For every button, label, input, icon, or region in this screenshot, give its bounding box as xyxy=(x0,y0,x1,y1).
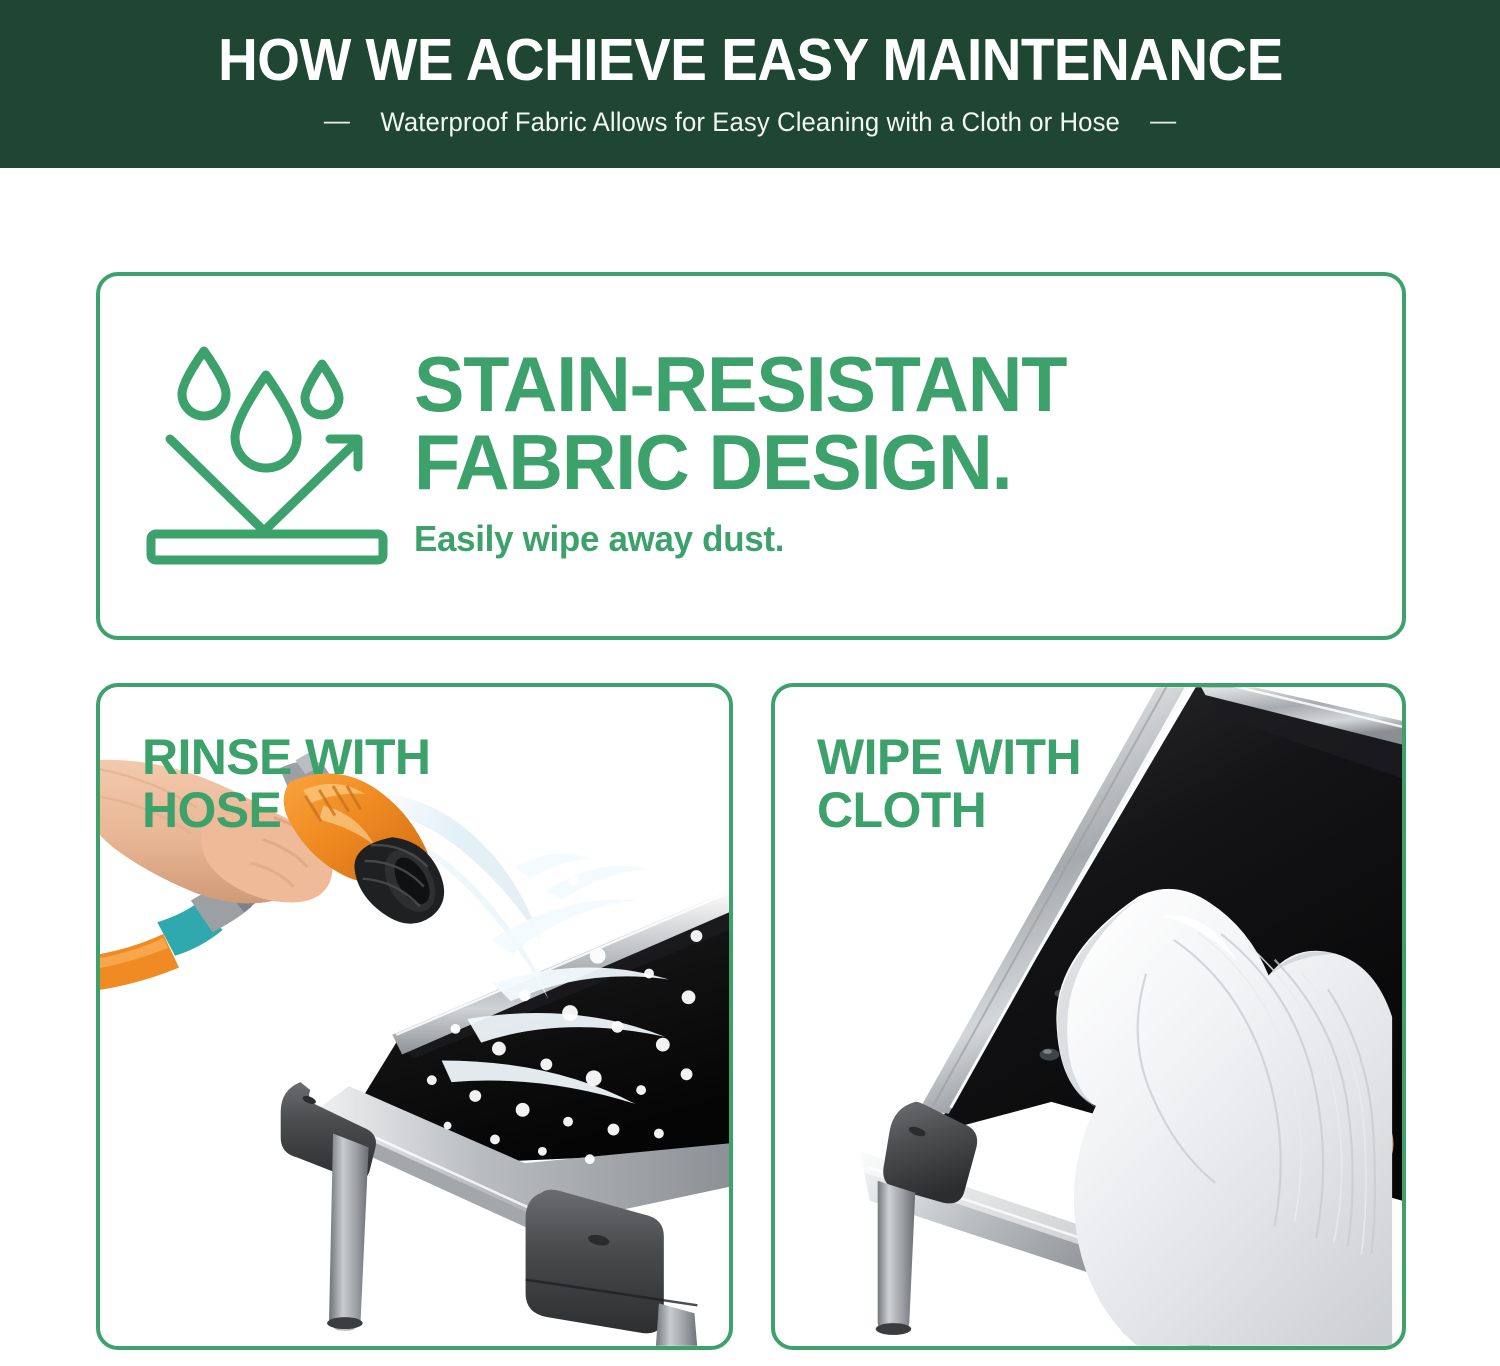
stain-card-inner: STAIN-RESISTANT FABRIC DESIGN. Easily wi… xyxy=(100,276,1402,636)
metal-leg-left xyxy=(878,1181,916,1335)
subtitle-row: — Waterproof Fabric Allows for Easy Clea… xyxy=(324,107,1176,138)
stain-resistant-card: STAIN-RESISTANT FABRIC DESIGN. Easily wi… xyxy=(96,272,1406,640)
page-header: HOW WE ACHIEVE EASY MAINTENANCE — Waterp… xyxy=(0,0,1500,168)
stain-card-text: STAIN-RESISTANT FABRIC DESIGN. Easily wi… xyxy=(414,346,1086,565)
dark-gray-corner-cap-right xyxy=(526,1190,664,1334)
water-repellent-fabric-icon xyxy=(142,331,392,581)
wipe-with-cloth-card: WIPE WITH CLOTH xyxy=(771,683,1406,1350)
metal-leg-left xyxy=(329,1134,368,1331)
white-microfiber-cloth xyxy=(1056,889,1392,1346)
stain-heading-line2: FABRIC DESIGN. xyxy=(414,424,1066,501)
dash-left-icon: — xyxy=(324,107,350,133)
rinse-with-hose-card: RINSE WITH HOSE xyxy=(96,683,733,1350)
hand-spraying-hose-on-pet-bed-photo xyxy=(100,687,729,1346)
page-subtitle: Waterproof Fabric Allows for Easy Cleani… xyxy=(380,107,1119,138)
hand-wiping-pet-bed-with-cloth-photo xyxy=(775,687,1402,1346)
stain-heading-line1: STAIN-RESISTANT xyxy=(414,346,1066,423)
page-title: HOW WE ACHIEVE EASY MAINTENANCE xyxy=(218,30,1283,90)
dash-right-icon: — xyxy=(1150,107,1176,133)
metal-leg-right xyxy=(655,1303,698,1346)
stain-subheading: Easily wipe away dust. xyxy=(414,518,1066,560)
